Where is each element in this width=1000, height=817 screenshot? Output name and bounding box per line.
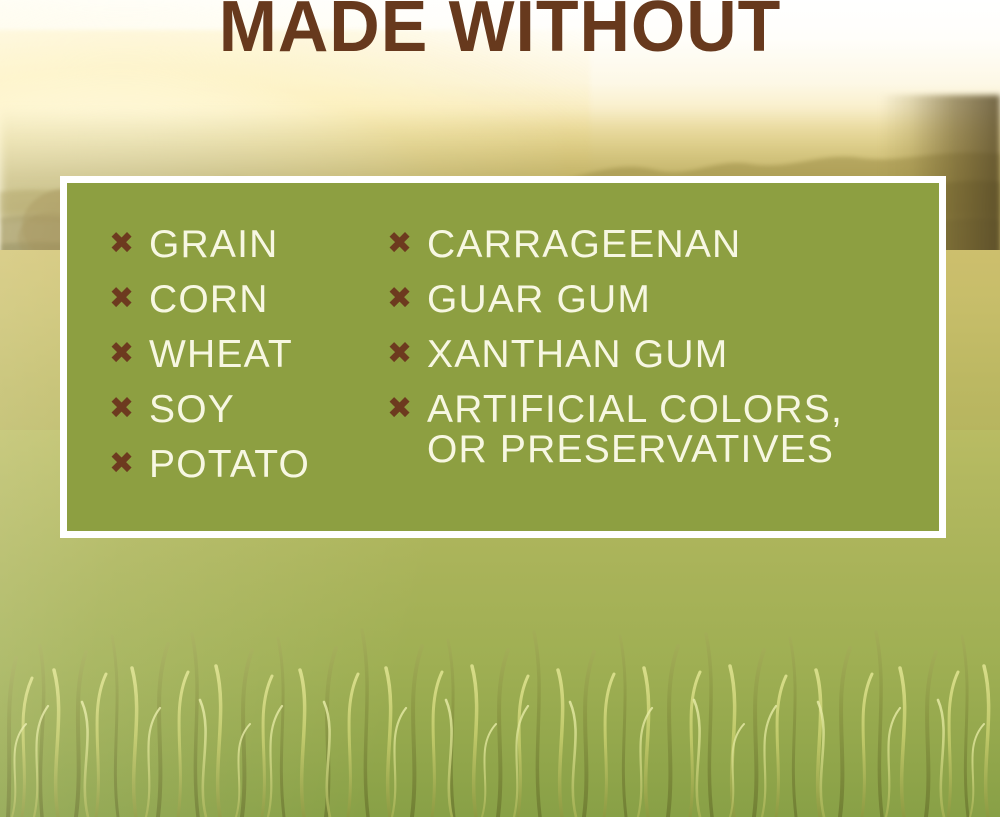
made-without-panel: ✖ GRAIN ✖ CORN ✖ WHEAT ✖ SOY (60, 176, 946, 538)
list-item: ✖ CORN (109, 280, 310, 335)
list-item-label: WHEAT (143, 335, 293, 375)
x-mark-icon: ✖ (109, 335, 143, 373)
list-item-label: POTATO (143, 445, 310, 485)
exclusion-list: ✖ GRAIN ✖ CORN ✖ WHEAT ✖ SOY (67, 183, 939, 531)
list-item-label: CARRAGEENAN (421, 225, 741, 265)
x-mark-icon: ✖ (109, 390, 143, 428)
list-item-label: XANTHAN GUM (421, 335, 728, 375)
list-item-label: GRAIN (143, 225, 279, 265)
list-item: ✖ WHEAT (109, 335, 310, 390)
page-title: MADE WITHOUT (15, 0, 985, 63)
x-mark-icon: ✖ (387, 225, 421, 263)
x-mark-icon: ✖ (387, 280, 421, 318)
list-item: ✖ GRAIN (109, 225, 310, 280)
list-item-label: SOY (143, 390, 235, 430)
list-item: ✖ SOY (109, 390, 310, 445)
x-mark-icon: ✖ (109, 445, 143, 483)
list-item: ✖ POTATO (109, 445, 310, 500)
list-item: ✖ XANTHAN GUM (387, 335, 843, 390)
x-mark-icon: ✖ (387, 390, 421, 428)
promotional-graphic: MADE WITHOUT ✖ GRAIN ✖ CORN ✖ WHEAT (0, 0, 1000, 817)
list-item-label: ARTIFICIAL COLORS, OR PRESERVATIVES (421, 390, 843, 470)
left-column: ✖ GRAIN ✖ CORN ✖ WHEAT ✖ SOY (109, 225, 310, 500)
list-item-label: GUAR GUM (421, 280, 651, 320)
x-mark-icon: ✖ (109, 225, 143, 263)
x-mark-icon: ✖ (109, 280, 143, 318)
panel-inner: ✖ GRAIN ✖ CORN ✖ WHEAT ✖ SOY (67, 183, 939, 531)
right-column: ✖ CARRAGEENAN ✖ GUAR GUM ✖ XANTHAN GUM ✖… (387, 225, 843, 484)
x-mark-icon: ✖ (387, 335, 421, 373)
list-item: ✖ GUAR GUM (387, 280, 843, 335)
list-item-label: CORN (143, 280, 269, 320)
list-item: ✖ ARTIFICIAL COLORS, OR PRESERVATIVES (387, 390, 843, 484)
list-item: ✖ CARRAGEENAN (387, 225, 843, 280)
